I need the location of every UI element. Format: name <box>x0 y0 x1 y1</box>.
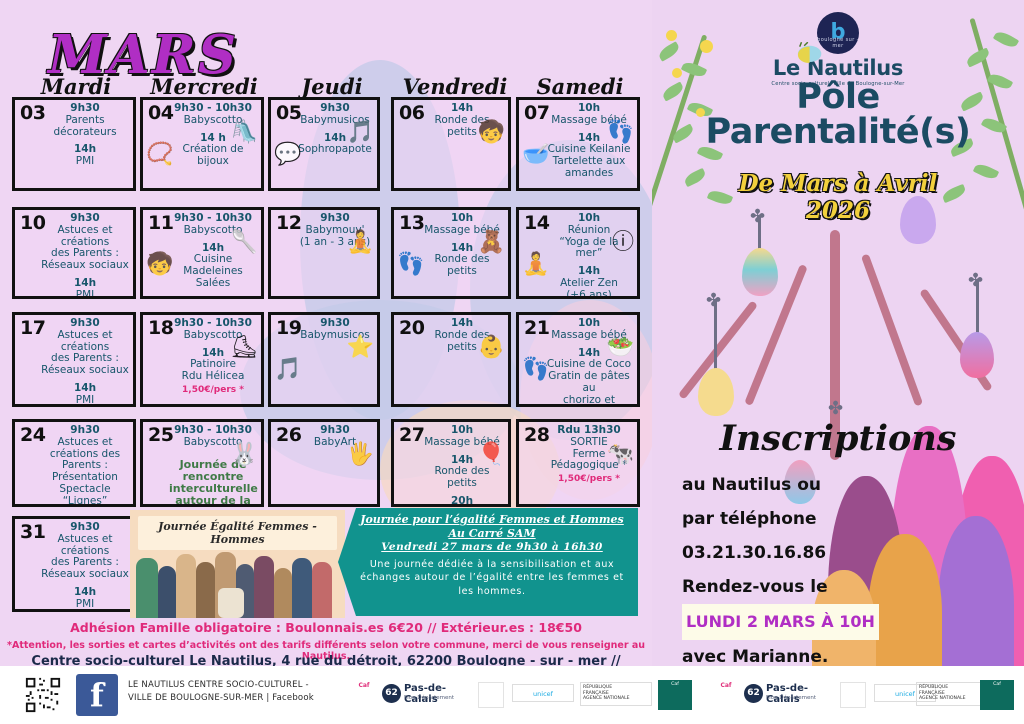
event-time: 10h <box>545 213 633 225</box>
event-description: PMI <box>41 156 129 168</box>
calendar-cell-28[interactable]: 28Rdu 13h30SORTIEFermePédagogique *1,50€… <box>516 419 640 507</box>
event-time: 9h30 - 10h30 <box>169 213 257 225</box>
day-header-mardi: Mardi <box>12 74 140 99</box>
event: 14hPMI <box>41 587 129 611</box>
calendar-cell-19[interactable]: 199h30Babymusicos⭐🎵 <box>268 312 380 407</box>
event: 9h30Astuces et créationsdes Parents :Rés… <box>41 522 129 581</box>
cell-events: 10hMassage bébé14hCuisine de CocoGratin … <box>545 318 633 407</box>
event-description: PMI <box>41 599 129 611</box>
event-time: 20h <box>420 496 504 507</box>
crowd-figure <box>136 558 158 618</box>
event-description: Cuisine KeilanieTartelette auxamandes <box>545 144 633 179</box>
facebook-page-name: LE NAUTILUS CENTRE SOCIO-CULTUREL - VILL… <box>128 679 314 705</box>
crowd-figure <box>218 588 244 618</box>
event-time: 14h <box>41 278 129 290</box>
event-time: 10h <box>545 103 633 115</box>
calendar-cell-03[interactable]: 039h30Parentsdécorateurs14hPMI <box>12 97 136 191</box>
baby-ball-icon: 🧒 <box>478 122 505 144</box>
meeting-highlight: LUNDI 2 MARS À 10H <box>682 604 879 640</box>
event-time: 14h <box>545 266 633 278</box>
event: 14hPMI <box>41 144 129 168</box>
easter-egg <box>698 368 734 416</box>
calendar-cell-13[interactable]: 1310hMassage bébé14hRonde des petits🧸👣 <box>391 207 511 299</box>
pdc-title: Pas-de-Calais <box>404 683 468 705</box>
whisk-icon: 🥄 <box>231 232 258 254</box>
calendar-cell-11[interactable]: 119h30 - 10h30Babyscotto14hCuisineMadele… <box>140 207 264 299</box>
toddler-icon: 🧒 <box>146 254 173 276</box>
speech-bubble-icon: 💬 <box>274 144 301 166</box>
cell-events: 9h30Astuces et créationsdes Parents :Rés… <box>41 318 129 407</box>
nautilus-logo: b boulogne sur - mer Le Nautilus Centre … <box>758 12 918 87</box>
event-description: Astuces et créations desParents : Présen… <box>41 437 129 507</box>
contact-person: avec Marianne. <box>682 640 902 666</box>
event-description: Création de bijoux <box>169 144 257 168</box>
day-header-samedi: Samedi <box>516 74 644 99</box>
inscriptions-title: Inscriptions <box>652 418 1024 459</box>
calendar-cell-07[interactable]: 0710hMassage bébé14hCuisine KeilanieTart… <box>516 97 640 191</box>
day-header-mercredi: Mercredi <box>140 74 268 99</box>
calendar-cell-10[interactable]: 109h30Astuces et créationsdes Parents :R… <box>12 207 136 299</box>
phone-number[interactable]: 03.21.30.16.86 <box>682 536 902 570</box>
event-time: 9h30 <box>41 425 129 437</box>
republique-francaise-logo: RÉPUBLIQUEFRANÇAISEAGENCE NATIONALE <box>580 682 652 706</box>
period-line-2: 2026 <box>652 197 1024 224</box>
event-time: 9h30 <box>297 425 373 437</box>
event: 14hAtelier Zen(+6 ans) <box>545 266 633 299</box>
caf-logo: Caf <box>706 682 746 706</box>
period-line-1: De Mars à Avril <box>652 170 1024 197</box>
meditation-icon: 🧘 <box>522 254 549 276</box>
music-note-icon: 🎵 <box>347 122 374 144</box>
event-description: Ronde des petits <box>420 466 504 490</box>
unicef-logo: unicef <box>512 684 574 702</box>
title-line-2: Parentalité(s) <box>652 115 1024 150</box>
calendar-cell-31[interactable]: 319h30Astuces et créationsdes Parents :R… <box>12 516 136 612</box>
calendar-cell-05[interactable]: 059h30Babymusicos14hSophropapote🎵💬 <box>268 97 380 191</box>
baby-slide-icon: 🛝 <box>231 122 258 144</box>
cell-events: 9h30Astuces et créations desParents : Pr… <box>41 425 129 507</box>
footer-membership-fees: Adhésion Famille obligatoire : Boulonnai… <box>0 620 652 635</box>
event-time: 9h30 <box>297 103 373 115</box>
yoga-mother-baby-icon: 🧘 <box>347 232 374 254</box>
calendar-cell-14[interactable]: 1410hRéunion“Yoga de la mer”14hAtelier Z… <box>516 207 640 299</box>
calendar-cell-21[interactable]: 2110hMassage bébé14hCuisine de CocoGrati… <box>516 312 640 407</box>
event: 14hPMI <box>41 383 129 407</box>
mixing-bowl-icon: 🥣 <box>522 144 549 166</box>
calendar-cell-25[interactable]: 259h30 - 10h30BabyscottoJournée de renco… <box>140 419 264 507</box>
event-time: 14h <box>420 103 504 115</box>
period-subtitle: De Mars à Avril 2026 <box>652 170 1024 224</box>
crowd-figure <box>292 558 312 618</box>
event: 9h30Astuces et créations desParents : Pr… <box>41 425 129 507</box>
cell-events: 9h30Astuces et créationsdes Parents :Rés… <box>41 522 129 611</box>
calendar-cell-17[interactable]: 179h30Astuces et créationsdes Parents :R… <box>12 312 136 407</box>
music-note-icon: 🎵 <box>274 359 301 381</box>
teal-banner-line1: Journée pour l’égalité Femmes et Hommes <box>356 513 628 527</box>
republique-francaise-logo: RÉPUBLIQUEFRANÇAISEAGENCE NATIONALE <box>916 682 988 706</box>
balloon-child-icon: 🎈 <box>478 444 505 466</box>
baby-feet-icon: 👣 <box>607 122 634 144</box>
event-time: 9h30 <box>297 213 373 225</box>
event-time: 9h30 <box>297 318 373 330</box>
teal-event-banner: Journée pour l’égalité Femmes et Hommes … <box>338 508 638 616</box>
green-logo <box>478 682 504 708</box>
day-header-vendredi: Vendredi <box>391 74 519 99</box>
page-title: Pôle Parentalité(s) <box>652 80 1024 150</box>
cow-icon: 🐄 <box>607 444 634 466</box>
qr-code-icon[interactable] <box>24 676 62 714</box>
teal-banner-paragraph: Une journée dédiée à la sensibilisation … <box>356 558 628 599</box>
pdc-badge: 62 <box>382 684 401 703</box>
fb-line-2: VILLE DE BOULOGNE-SUR-MER | Facebook <box>128 692 314 705</box>
event-description: Atelier Zen(+6 ans) <box>545 278 633 299</box>
partner-logo-bar: f LE NAUTILUS CENTRE SOCIO-CULTUREL - VI… <box>0 666 1024 724</box>
pdc-subtitle: Mon Département <box>766 695 816 701</box>
pdc-subtitle: Mon Département <box>404 695 454 701</box>
event-description: PatinoireRdu Hélicea <box>169 359 257 383</box>
contact-info: au Nautilus ou par téléphone 03.21.30.16… <box>682 468 902 666</box>
two-babies-icon: 👶 <box>478 337 505 359</box>
contact-line-4: Rendez-vous le <box>682 570 902 604</box>
event-description: Sophropapote <box>297 144 373 156</box>
contact-line-1: au Nautilus ou <box>682 468 902 502</box>
easter-egg <box>960 332 994 378</box>
teal-banner-line3: Vendredi 27 mars de 9h30 à 16h30 <box>356 541 628 554</box>
event-time: 14h <box>420 318 504 330</box>
day-header-jeudi: Jeudi <box>268 74 396 99</box>
cell-events: 9h30Parentsdécorateurs14hPMI <box>41 103 129 169</box>
crowd-figure <box>274 568 292 618</box>
facebook-icon[interactable]: f <box>76 674 118 716</box>
calendar-cell-18[interactable]: 189h30 - 10h30Babyscotto14hPatinoireRdu … <box>140 312 264 407</box>
event: 9h30Parentsdécorateurs <box>41 103 129 138</box>
event-time: 14h <box>41 383 129 395</box>
pas-de-calais-logo: 62 Pas-de-Calais Mon Département <box>744 682 830 706</box>
event-description: PMI <box>41 395 129 407</box>
caf-territoires-logo: Caf <box>980 680 1014 710</box>
event-time: 9h30 - 10h30 <box>169 103 257 115</box>
crowd-figure <box>312 562 332 618</box>
event-description: Astuces et créationsdes Parents :Réseaux… <box>41 330 129 377</box>
event-time: 9h30 <box>41 103 129 115</box>
crowd-figure <box>158 566 176 618</box>
contact-line-2: par téléphone <box>682 502 902 536</box>
event-time: 10h <box>420 425 504 437</box>
calendar-cell-12[interactable]: 129h30Babymouv'(1 an - 3 ans)🧘 <box>268 207 380 299</box>
baby-feet-icon: 👣 <box>522 359 549 381</box>
event-time: 9h30 <box>41 318 129 330</box>
calendar-panel: MARS Mardi Mercredi Jeudi Vendredi Samed… <box>0 0 652 666</box>
event-description: Astuces et créationsdes Parents :Réseaux… <box>41 534 129 581</box>
event-price: 1,50€/pers * <box>169 385 257 395</box>
event: 14hPMI <box>41 278 129 299</box>
cell-events: 9h30Astuces et créationsdes Parents :Rés… <box>41 213 129 299</box>
ice-skater-icon: ⛸ <box>230 337 258 359</box>
event-description: Cuisine de CocoGratin de pâtes auchorizo… <box>545 359 633 407</box>
event-description: Ronde des petits <box>420 254 504 278</box>
event-time: 10h <box>545 318 633 330</box>
event-time: Rdu 13h30 <box>545 425 633 437</box>
crowd-figure <box>196 562 215 618</box>
green-logo <box>840 682 866 708</box>
salad-bowl-icon: 🥗 <box>607 337 634 359</box>
footer-address: Centre socio-culturel Le Nautilus, 4 rue… <box>0 654 652 666</box>
event-description: Parentsdécorateurs <box>41 115 129 139</box>
event-time: 10h <box>420 213 504 225</box>
poster-root: MARS Mardi Mercredi Jeudi Vendredi Samed… <box>0 0 1024 724</box>
event: 9h30Astuces et créationsdes Parents :Rés… <box>41 318 129 377</box>
fb-line-1: LE NAUTILUS CENTRE SOCIO-CULTUREL - <box>128 679 314 692</box>
crowd-figure <box>254 556 274 618</box>
event-time: 14h <box>41 587 129 599</box>
pdc-badge: 62 <box>744 684 763 703</box>
title-line-1: Pôle <box>652 80 1024 115</box>
calendar-cell-26[interactable]: 269h30BabyArt🖐 <box>268 419 380 507</box>
event-time: 9h30 - 10h30 <box>169 425 257 437</box>
event-time: 9h30 <box>41 213 129 225</box>
event-time: 9h30 <box>41 522 129 534</box>
calendar-cell-20[interactable]: 2014hRonde des petits👶 <box>391 312 511 407</box>
cell-events: 10hRéunion“Yoga de la mer”14hAtelier Zen… <box>545 213 633 299</box>
event-description: PMI <box>41 290 129 300</box>
equality-banner-text: Journée Égalité Femmes - Hommes <box>130 520 345 546</box>
event-price: 1,50€/pers * <box>545 474 633 484</box>
info-icon: ⓘ <box>612 232 634 254</box>
rabbit-weightlifter-icon: 🐰 <box>231 444 258 466</box>
teal-banner-line2: Au Carré SAM <box>356 527 628 541</box>
calendar-cell-24[interactable]: 249h30Astuces et créations desParents : … <box>12 419 136 507</box>
calendar-cell-04[interactable]: 049h30 - 10h30Babyscotto14 hCréation de … <box>140 97 264 191</box>
event: 9h30Astuces et créationsdes Parents :Rés… <box>41 213 129 272</box>
event-description: Astuces et créationsdes Parents :Réseaux… <box>41 225 129 272</box>
equality-illustration: Journée Égalité Femmes - Hommes <box>130 510 345 618</box>
pas-de-calais-logo: 62 Pas-de-Calais Mon Département <box>382 682 468 706</box>
info-panel: ✤ ✤ ✤ ✤ b boulogne sur - mer Le Nautilus… <box>652 0 1024 666</box>
star-headphones-icon: ⭐ <box>347 337 374 359</box>
event-description: CuisineMadeleines Salées <box>169 254 257 289</box>
caf-territoires-logo: Caf <box>658 680 692 710</box>
event-time: 9h30 - 10h30 <box>169 318 257 330</box>
pdc-title: Pas-de-Calais <box>766 683 830 705</box>
bead-necklace-icon: 📿 <box>146 144 173 166</box>
event: 20hSpectacle ThéâtreMonsigny “Lignes” <box>420 496 504 507</box>
caf-logo: Caf <box>344 682 384 706</box>
easter-egg <box>742 248 778 296</box>
baby-toys-icon: 🧸 <box>478 232 505 254</box>
baby-feet-icon: 👣 <box>397 254 424 276</box>
handprints-icon: 🖐 <box>347 444 374 466</box>
crowd-figure <box>176 554 196 618</box>
calendar-cell-06[interactable]: 0614hRonde des petits🧒 <box>391 97 511 191</box>
snail-icon <box>788 42 824 64</box>
calendar-cell-27[interactable]: 2710hMassage bébé14hRonde des petits20hS… <box>391 419 511 507</box>
